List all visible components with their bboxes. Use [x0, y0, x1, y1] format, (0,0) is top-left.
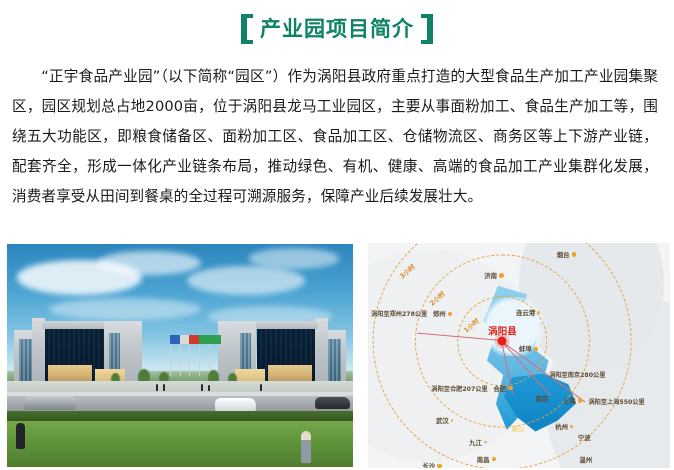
plaza: [7, 381, 353, 392]
city-jinan: 济南: [484, 271, 503, 280]
city-dot-icon: [578, 398, 583, 403]
car-white: [215, 398, 257, 412]
title-wrap: 产业园项目简介: [241, 14, 433, 44]
center-dot-icon: [498, 336, 507, 345]
city-bengbu: 蚌埠: [519, 344, 538, 353]
center-marker-woyang: 涡阳县: [498, 336, 507, 345]
city-shanghai: 上海: [563, 396, 582, 405]
intro-paragraph: “正宇食品产业园”（以下简称“园区”）作为涡阳县政府重点打造的大型食品生产加工产…: [0, 58, 660, 212]
distance-nanjing: 涡阳至南京280公里: [549, 370, 605, 379]
city-dot-icon: [451, 419, 454, 422]
map-canvas: 1小时 2小时 3小时 涡阳县 涡阳至郑州278公里 涡阳至合肥207公里 涡阳…: [368, 243, 670, 468]
flag-array: [168, 335, 216, 375]
distance-hefei: 涡阳至合肥207公里: [431, 384, 487, 393]
city-dot-icon: [570, 425, 573, 428]
city-dot-icon: [448, 312, 453, 317]
office-building-left: [14, 315, 142, 382]
cloud: [249, 248, 339, 268]
flag-green: [209, 335, 221, 344]
bracket-right-icon: [421, 14, 433, 44]
figures-row: 1小时 2小时 3小时 涡阳县 涡阳至郑州278公里 涡阳至合肥207公里 涡阳…: [0, 243, 674, 470]
city-jiujiang: 九江: [469, 438, 486, 447]
park-rendering-image: [6, 243, 354, 468]
city-hefei: 合肥: [493, 384, 512, 393]
city-dot-icon: [508, 386, 513, 391]
city-hangzhou: 杭州: [555, 422, 572, 431]
city-dot-icon: [499, 273, 504, 278]
distance-shanghai: 涡阳至上海550公里: [588, 397, 644, 406]
city-dot-icon: [572, 252, 577, 257]
section-title-bar: 产业园项目简介: [0, 0, 674, 58]
city-dot-icon: [437, 464, 442, 469]
city-zhengzhou: 郑州: [433, 309, 452, 318]
document-page: 产业园项目简介 “正宇食品产业园”（以下简称“园区”）作为涡阳县政府重点打造的大…: [0, 0, 674, 470]
city-lianyungang: 连云港: [516, 308, 540, 317]
center-city-label: 涡阳县: [488, 323, 517, 337]
pedestrian-right: [301, 431, 311, 463]
city-dot-icon: [537, 311, 540, 314]
city-dot-icon: [492, 457, 497, 462]
city-nanchang: 南昌: [477, 455, 496, 464]
city-nanjing: 南京: [536, 394, 549, 403]
page-title: 产业园项目简介: [260, 14, 414, 44]
distance-zhengzhou: 涡阳至郑州278公里: [371, 309, 427, 318]
rendering-canvas: [7, 244, 353, 467]
city-huangshan: 黄山: [511, 424, 524, 433]
city-yantai: 烟台: [557, 250, 576, 259]
city-wenzhou: 温州: [579, 455, 592, 464]
location-map-image: 1小时 2小时 3小时 涡阳县 涡阳至郑州278公里 涡阳至合肥207公里 涡阳…: [368, 243, 670, 468]
cloud: [97, 251, 201, 276]
city-dot-icon: [484, 441, 487, 444]
car-black: [315, 397, 350, 409]
bracket-left-icon: [241, 14, 253, 44]
cloud: [187, 266, 305, 295]
city-dot-icon: [534, 347, 539, 352]
car-dark: [24, 396, 76, 410]
hedge: [7, 411, 353, 421]
pedestrian-left: [16, 423, 25, 449]
city-changsha: 长沙: [422, 461, 441, 468]
office-building-right: [218, 315, 346, 382]
city-ningbo: 宁波: [578, 433, 591, 442]
city-wuhan: 武汉: [436, 416, 453, 425]
